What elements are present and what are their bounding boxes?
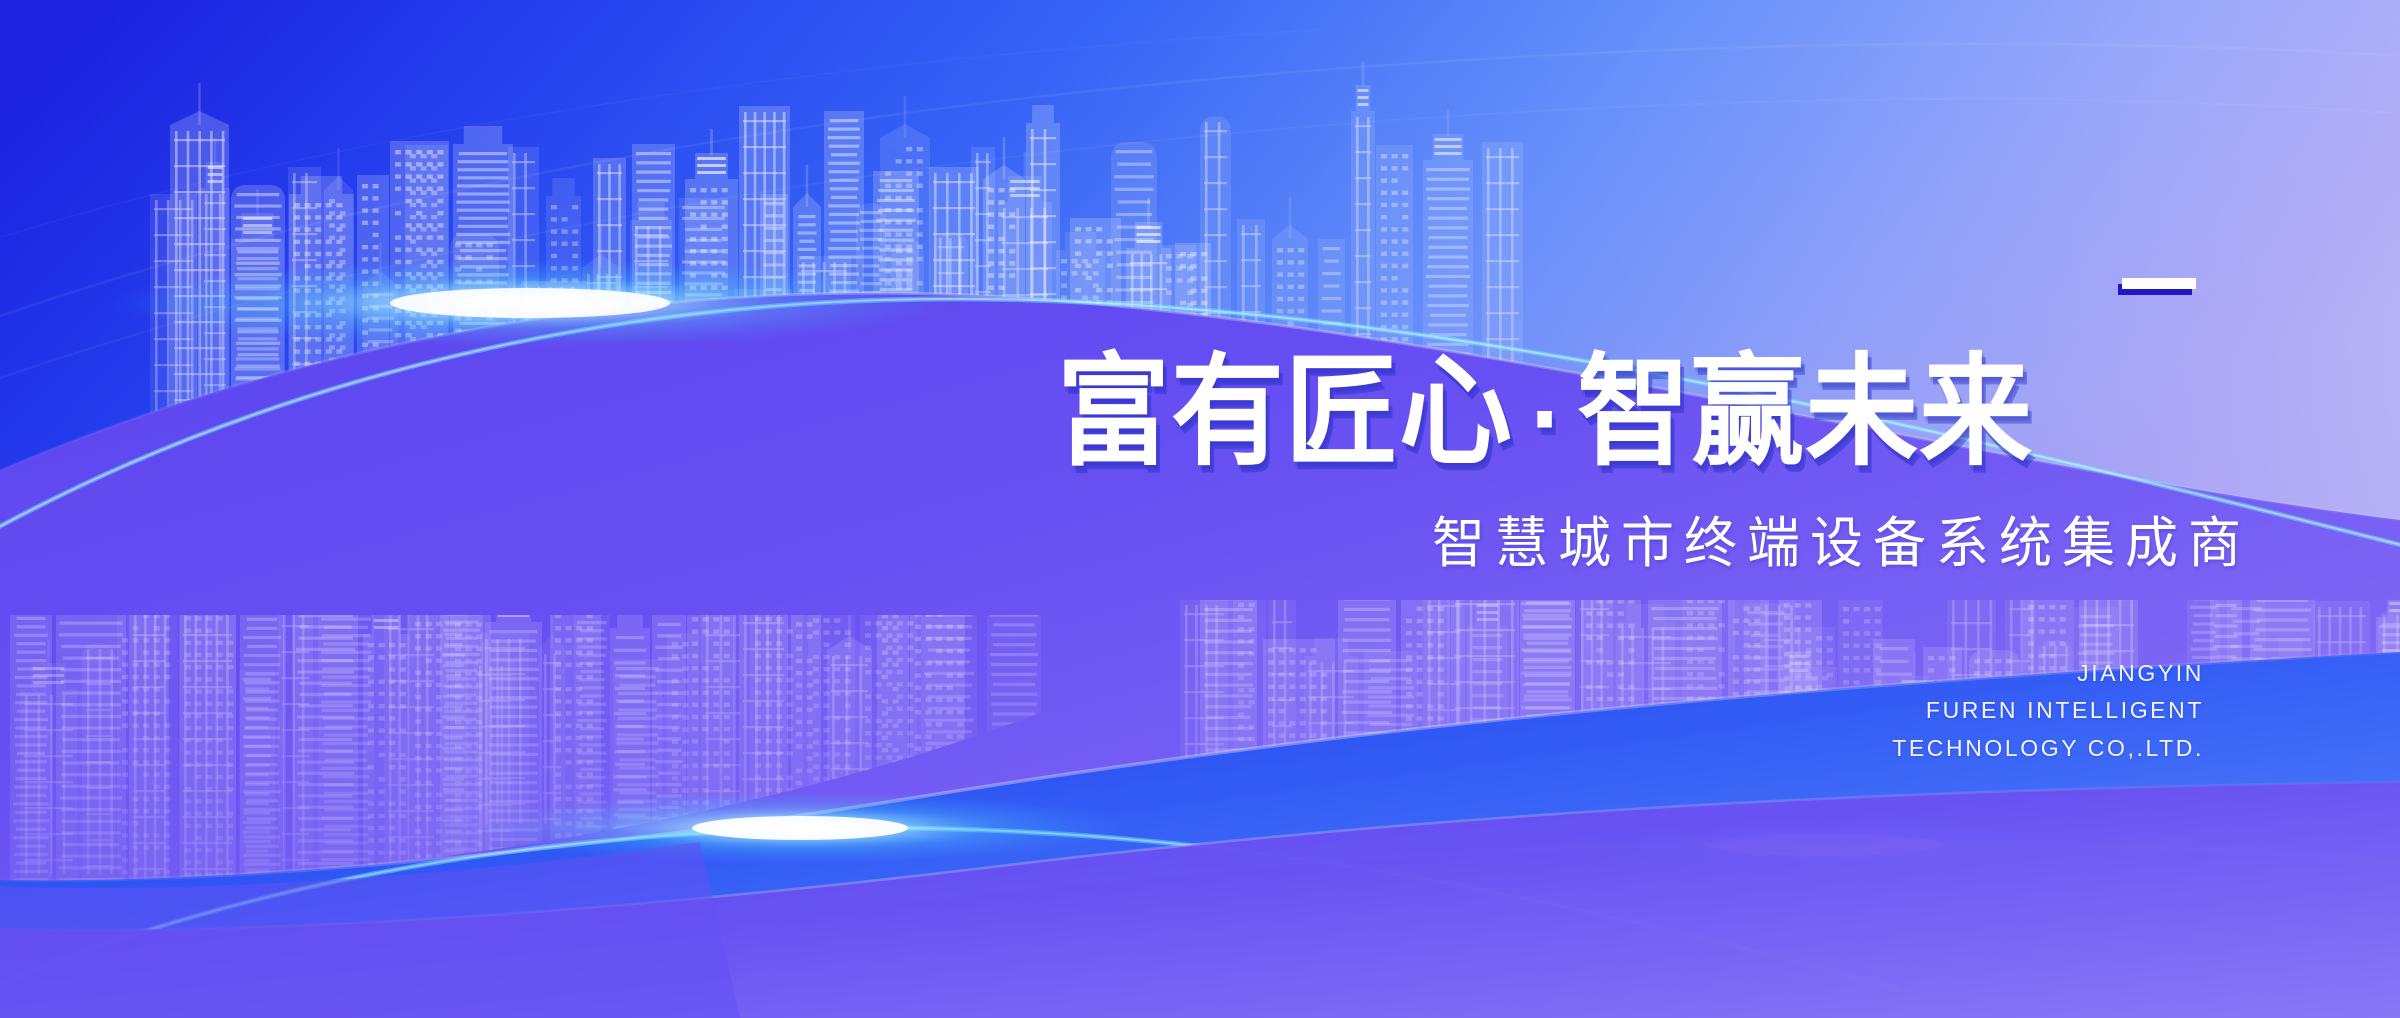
main-title: 富有匠心·智赢未来 [1057,352,2033,473]
main-title-left: 富有匠心 [1057,341,1513,482]
main-title-separator: · [1513,369,1577,471]
background-artwork [0,0,2400,1018]
company-english-name: JIANGYIN FUREN INTELLIGENT TECHNOLOGY CO… [1892,655,2204,767]
accent-dash-mark [2122,278,2196,289]
main-title-right: 智赢未来 [1577,341,2033,482]
company-en-line-2: FUREN INTELLIGENT [1892,692,2204,729]
banner-canvas: 富有匠心·智赢未来 智慧城市终端设备系统集成商 JIANGYIN FUREN I… [0,0,2400,1018]
sub-title: 智慧城市终端设备系统集成商 [1432,516,2251,571]
company-en-line-3: TECHNOLOGY CO,.LTD. [1892,730,2204,767]
company-en-line-1: JIANGYIN [1892,655,2204,692]
